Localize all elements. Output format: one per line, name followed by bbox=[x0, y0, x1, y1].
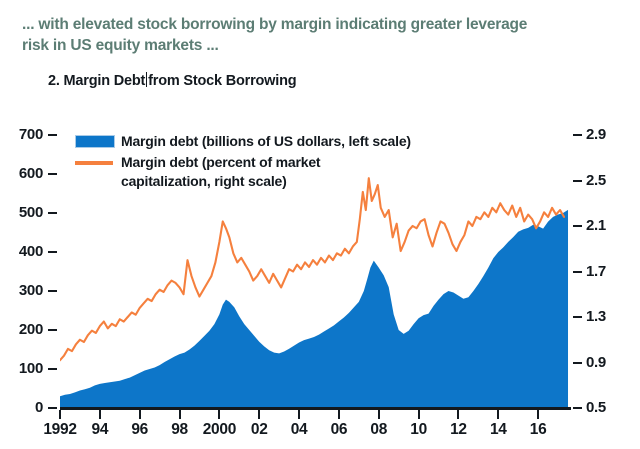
text-cursor bbox=[146, 72, 147, 87]
y-axis-left-tick-label: 700 bbox=[0, 126, 43, 143]
x-axis-tick bbox=[338, 410, 340, 419]
y-axis-left-tick bbox=[48, 329, 57, 331]
x-axis-tick bbox=[298, 410, 300, 419]
x-axis-tick bbox=[139, 410, 141, 419]
x-axis-tick bbox=[258, 410, 260, 419]
legend-item-label: Margin debt (billions of US dollars, lef… bbox=[121, 132, 411, 151]
y-axis-right-tick bbox=[573, 134, 582, 136]
swatch-stroke bbox=[75, 161, 113, 165]
x-axis-tick-label: 96 bbox=[131, 421, 148, 439]
lead-paragraph: ... with elevated stock borrowing by mar… bbox=[22, 14, 622, 56]
page-title: 2. Margin Debtfrom Stock Borrowing bbox=[48, 72, 296, 89]
y-axis-right-tick bbox=[573, 225, 582, 227]
x-axis-tick-label: 94 bbox=[92, 421, 109, 439]
legend-area-swatch-icon bbox=[75, 132, 121, 151]
y-axis-left-tick-label: 100 bbox=[0, 360, 43, 377]
legend-item: Margin debt (billions of US dollars, lef… bbox=[75, 132, 495, 151]
x-axis-tick-label: 2000 bbox=[203, 421, 236, 439]
legend-item: Margin debt (percent of market capitaliz… bbox=[75, 153, 495, 191]
panel-number: 2. bbox=[48, 73, 60, 89]
y-axis-left-tick bbox=[48, 134, 57, 136]
x-axis-tick-label: 04 bbox=[291, 421, 308, 439]
y-axis-right-tick bbox=[573, 316, 582, 318]
x-axis-tick bbox=[457, 410, 459, 419]
y-axis-right-tick-label: 0.9 bbox=[586, 354, 606, 371]
y-axis-left-tick bbox=[48, 407, 57, 409]
x-axis-tick-label: 1992 bbox=[43, 421, 76, 439]
y-axis-left-tick-label: 0 bbox=[0, 399, 43, 416]
x-axis-tick-label: 98 bbox=[171, 421, 188, 439]
y-axis-left-tick-label: 600 bbox=[0, 165, 43, 182]
x-axis-tick bbox=[218, 410, 220, 419]
y-axis-right-tick bbox=[573, 180, 582, 182]
y-axis-right-tick bbox=[573, 407, 582, 409]
panel-title-part1: Margin Debt bbox=[64, 73, 146, 89]
x-axis-tick-label: 06 bbox=[331, 421, 348, 439]
x-axis-tick bbox=[179, 410, 181, 419]
legend-line-swatch-icon bbox=[75, 153, 121, 172]
y-axis-right-tick-label: 2.9 bbox=[586, 126, 606, 143]
x-axis-tick bbox=[99, 410, 101, 419]
margin-debt-area-series bbox=[60, 210, 568, 408]
chart-legend: Margin debt (billions of US dollars, lef… bbox=[75, 132, 495, 193]
y-axis-left-tick-label: 200 bbox=[0, 321, 43, 338]
x-axis-tick bbox=[59, 410, 61, 419]
x-axis-tick-label: 14 bbox=[490, 421, 507, 439]
x-axis-tick-label: 10 bbox=[410, 421, 427, 439]
y-axis-left-tick-label: 300 bbox=[0, 282, 43, 299]
y-axis-right-tick-label: 2.1 bbox=[586, 217, 606, 234]
x-axis-tick bbox=[497, 410, 499, 419]
y-axis-left-tick bbox=[48, 173, 57, 175]
legend-item-label: Margin debt (percent of market capitaliz… bbox=[121, 153, 320, 191]
y-axis-left-tick bbox=[48, 290, 57, 292]
x-axis-line bbox=[60, 407, 571, 410]
y-axis-left-tick bbox=[48, 251, 57, 253]
x-axis-tick bbox=[537, 410, 539, 419]
y-axis-left-tick bbox=[48, 212, 57, 214]
y-axis-right-tick bbox=[573, 271, 582, 273]
y-axis-left-tick-label: 400 bbox=[0, 243, 43, 260]
y-axis-right-tick-label: 1.7 bbox=[586, 263, 606, 280]
x-axis-tick-label: 16 bbox=[530, 421, 547, 439]
y-axis-right-tick-label: 0.5 bbox=[586, 399, 606, 416]
x-axis-tick bbox=[378, 410, 380, 419]
y-axis-left-tick-label: 500 bbox=[0, 204, 43, 221]
y-axis-right-tick bbox=[573, 362, 582, 364]
x-axis-tick-label: 08 bbox=[370, 421, 387, 439]
y-axis-right-tick-label: 1.3 bbox=[586, 308, 606, 325]
x-axis-tick bbox=[418, 410, 420, 419]
x-axis-tick-label: 12 bbox=[450, 421, 467, 439]
y-axis-right-tick-label: 2.5 bbox=[586, 172, 606, 189]
swatch-rect bbox=[75, 135, 115, 148]
x-axis-tick-label: 02 bbox=[251, 421, 268, 439]
margin-debt-chart: 0100200300400500600700 0.50.91.31.72.12.… bbox=[0, 108, 640, 449]
y-axis-left-tick bbox=[48, 368, 57, 370]
panel-title-part2: from Stock Borrowing bbox=[148, 73, 296, 89]
